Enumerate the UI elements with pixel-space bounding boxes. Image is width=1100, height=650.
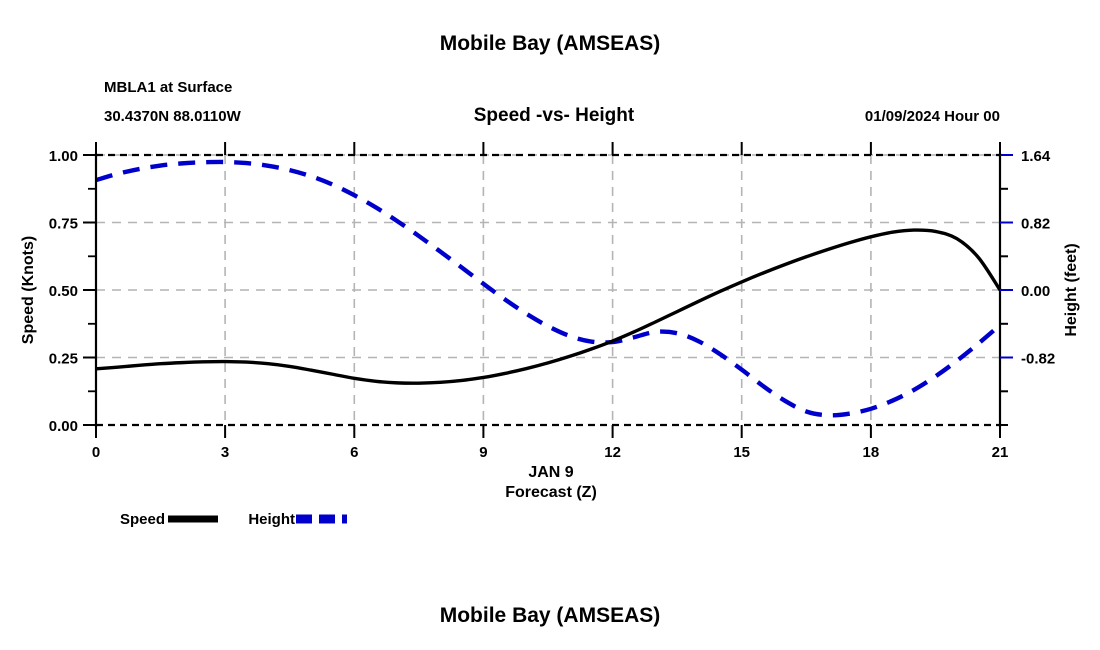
left-tick-label-0_00: 0.00	[49, 418, 78, 435]
x-tick-label-12: 12	[604, 444, 621, 461]
station-label: MBLA1 at Surface	[104, 79, 232, 96]
left-tick-label-0_75: 0.75	[49, 216, 78, 233]
left-tick-label-0_25: 0.25	[49, 351, 78, 368]
page-title: Mobile Bay (AMSEAS)	[440, 32, 661, 55]
y-axis-title-right: Height (feet)	[1063, 243, 1080, 336]
figure-background	[0, 0, 1100, 650]
right-tick-label-1_64: 1.64	[1021, 148, 1051, 165]
forecast-chart-figure: Mobile Bay (AMSEAS) Speed -vs- Height MB…	[0, 0, 1100, 650]
x-tick-label-21: 21	[992, 444, 1009, 461]
legend-label-height: Height	[248, 511, 295, 528]
coordinates-label: 30.4370N 88.0110W	[104, 108, 242, 125]
plot-title: Speed -vs- Height	[474, 105, 635, 126]
right-tick-label-0_82: 0.82	[1021, 216, 1050, 233]
x-tick-label-18: 18	[863, 444, 880, 461]
x-tick-label-0: 0	[92, 444, 100, 461]
legend-label-speed: Speed	[120, 511, 165, 528]
x-tick-label-6: 6	[350, 444, 358, 461]
left-tick-label-1_00: 1.00	[49, 148, 78, 165]
right-tick-label-neg0_82: -0.82	[1021, 351, 1055, 368]
x-tick-label-3: 3	[221, 444, 229, 461]
x-axis-title: Forecast (Z)	[505, 484, 597, 501]
x-axis-date-label: JAN 9	[528, 464, 573, 481]
right-tick-label-0_00: 0.00	[1021, 283, 1050, 300]
bottom-title: Mobile Bay (AMSEAS)	[440, 604, 661, 627]
forecast-datetime-label: 01/09/2024 Hour 00	[865, 108, 1000, 125]
left-tick-label-0_50: 0.50	[49, 283, 78, 300]
y-axis-title-left: Speed (Knots)	[20, 236, 37, 344]
x-tick-label-15: 15	[733, 444, 750, 461]
x-tick-label-9: 9	[479, 444, 487, 461]
